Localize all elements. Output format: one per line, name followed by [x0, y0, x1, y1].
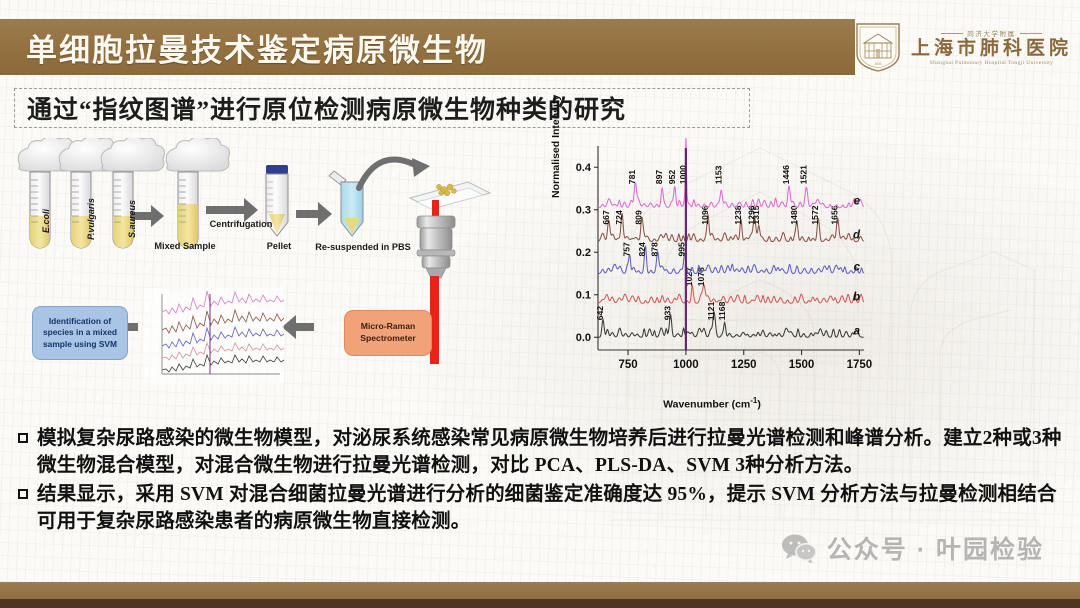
- peak-label-897: 897: [654, 170, 664, 185]
- peak-label-757: 757: [622, 242, 632, 257]
- body-text-block: 模拟复杂尿路感染的微生物模型，对泌尿系统感染常见病原微生物培养后进行拉曼光谱检测…: [18, 426, 1064, 538]
- label-mixed-sample: Mixed Sample: [145, 241, 225, 252]
- x-axis-label-tail: ): [757, 398, 761, 410]
- trace-label-a: a: [854, 325, 861, 337]
- peak-label-781: 781: [627, 170, 637, 185]
- peak-label-809: 809: [634, 210, 644, 225]
- workflow-diagram: E.coli P.vulgaris S.aureus Mixed Sample …: [14, 138, 554, 406]
- peak-label-1315: 1315: [751, 205, 761, 224]
- trace-label-b: b: [853, 291, 860, 303]
- spectrum-trace-b: [598, 285, 864, 304]
- arrow-curved-to-slide: [359, 158, 430, 188]
- page-title: 单细胞拉曼技术鉴定病原微生物: [0, 25, 488, 70]
- peak-label-1096: 1096: [700, 205, 710, 224]
- peak-label-1480: 1480: [789, 205, 799, 224]
- y-tick-label: 0.3: [576, 204, 591, 216]
- hospital-logo: 1933 同济大学附属 上海市肺科医院 Shanghai Pulmonary H…: [854, 21, 1072, 73]
- logo-hospital-name-cn: 上海市肺科医院: [911, 38, 1072, 60]
- peak-label-1521: 1521: [798, 165, 808, 184]
- tube-label-pvulgaris: P.vulgaris: [86, 198, 96, 240]
- peak-label-878: 878: [650, 242, 660, 257]
- tube-label-saureus: S.aureus: [127, 200, 137, 238]
- inset-spectra-thumbnail: [144, 288, 284, 384]
- y-tick-label: 0.0: [576, 332, 591, 344]
- logo-affiliation: 同济大学附属: [941, 28, 1042, 38]
- x-axis-label-base: Wavenumber (cm: [663, 398, 750, 410]
- peak-label-933: 933: [662, 306, 672, 321]
- y-tick-label: 0.1: [576, 289, 591, 301]
- spectrum-trace-a: [598, 312, 864, 337]
- svm-identification-box: Identification of species in a mixed sam…: [32, 306, 128, 360]
- spectrum-trace-e: [598, 138, 864, 208]
- building-crest-icon: 1933: [854, 21, 902, 73]
- y-tick-label: 0.2: [576, 247, 591, 259]
- x-tick-label: 1750: [847, 359, 872, 371]
- y-tick-label: 0.4: [576, 162, 592, 174]
- logo-hospital-name-en: Shanghai Pulmonary Hospital Tongji Unive…: [930, 60, 1054, 66]
- raman-objective: [410, 182, 490, 278]
- watermark: 公众号 · 叶园检验: [781, 530, 1044, 566]
- arrow-spectra-left: [282, 315, 314, 339]
- peak-label-1238: 1238: [733, 205, 743, 224]
- logo-rule-left: [941, 33, 963, 34]
- label-pellet: Pellet: [254, 241, 304, 252]
- svg-text:1933: 1933: [874, 62, 881, 66]
- mixed-sample-tube: [166, 138, 229, 248]
- micro-raman-spectrometer-box: Micro-Raman Spectrometer: [344, 310, 432, 356]
- bullet-text-2: 结果显示，采用 SVM 对混合细菌拉曼光谱进行分析的细菌鉴定准确度达 95%，提…: [37, 482, 1064, 536]
- peak-label-1656: 1656: [830, 205, 840, 224]
- trace-label-d: d: [853, 230, 861, 242]
- watermark-text: 公众号 · 叶园检验: [827, 530, 1044, 566]
- trace-label-c: c: [854, 262, 861, 274]
- chart-x-axis-label: Wavenumber (cm-1): [552, 396, 872, 411]
- wechat-bubble-icon: [781, 533, 817, 563]
- peak-label-667: 667: [601, 210, 611, 225]
- arrow-resuspend: [296, 202, 332, 226]
- footer-bar-dark: [0, 599, 1080, 608]
- bullet-square-icon: [18, 433, 28, 443]
- peak-label-1446: 1446: [781, 165, 791, 184]
- peak-label-1153: 1153: [713, 165, 723, 184]
- tube-label-ecoli: E.coli: [41, 209, 51, 233]
- peak-label-1121: 1121: [706, 301, 716, 320]
- bullet-item: 模拟复杂尿路感染的微生物模型，对泌尿系统感染常见病原微生物培养后进行拉曼光谱检测…: [18, 426, 1064, 480]
- peak-label-1572: 1572: [810, 205, 820, 224]
- label-resuspended-pbs: Re-suspended in PBS: [311, 242, 415, 253]
- raman-spectra-chart: Normalised Intensity 0.00.10.20.30.47501…: [552, 138, 872, 410]
- peak-label-1168: 1168: [717, 301, 727, 320]
- peak-label-952: 952: [667, 170, 677, 185]
- x-tick-label: 1500: [789, 359, 815, 371]
- peak-label-724: 724: [614, 210, 624, 225]
- label-centrifugation: Centrifugation: [204, 219, 278, 230]
- x-tick-label: 1000: [673, 359, 699, 371]
- subtitle-text: 通过“指纹图谱”进行原位检测病原微生物种类的研究: [15, 90, 626, 126]
- bullet-text-1: 模拟复杂尿路感染的微生物模型，对泌尿系统感染常见病原微生物培养后进行拉曼光谱检测…: [37, 426, 1064, 480]
- eppendorf-tube: [329, 171, 363, 236]
- chart-plot-area: 0.00.10.20.30.47501000125015001750a64293…: [552, 138, 872, 394]
- peak-label-642: 642: [595, 306, 605, 321]
- subtitle-box: 通过“指纹图谱”进行原位检测病原微生物种类的研究: [14, 88, 750, 128]
- x-tick-label: 750: [618, 359, 637, 371]
- workflow-svg: [14, 138, 554, 406]
- bullet-square-icon: [18, 489, 28, 499]
- bullet-item: 结果显示，采用 SVM 对混合细菌拉曼光谱进行分析的细菌鉴定准确度达 95%，提…: [18, 482, 1064, 536]
- peak-label-824: 824: [637, 242, 647, 257]
- header-bar: 单细胞拉曼技术鉴定病原微生物: [0, 19, 855, 75]
- footer-bar-light: [0, 582, 1080, 599]
- trace-label-e: e: [854, 196, 861, 208]
- chart-y-axis-label: Normalised Intensity: [550, 95, 562, 198]
- logo-rule-right: [1020, 33, 1042, 34]
- logo-affiliation-text: 同济大学附属: [967, 28, 1016, 38]
- x-tick-label: 1250: [731, 359, 757, 371]
